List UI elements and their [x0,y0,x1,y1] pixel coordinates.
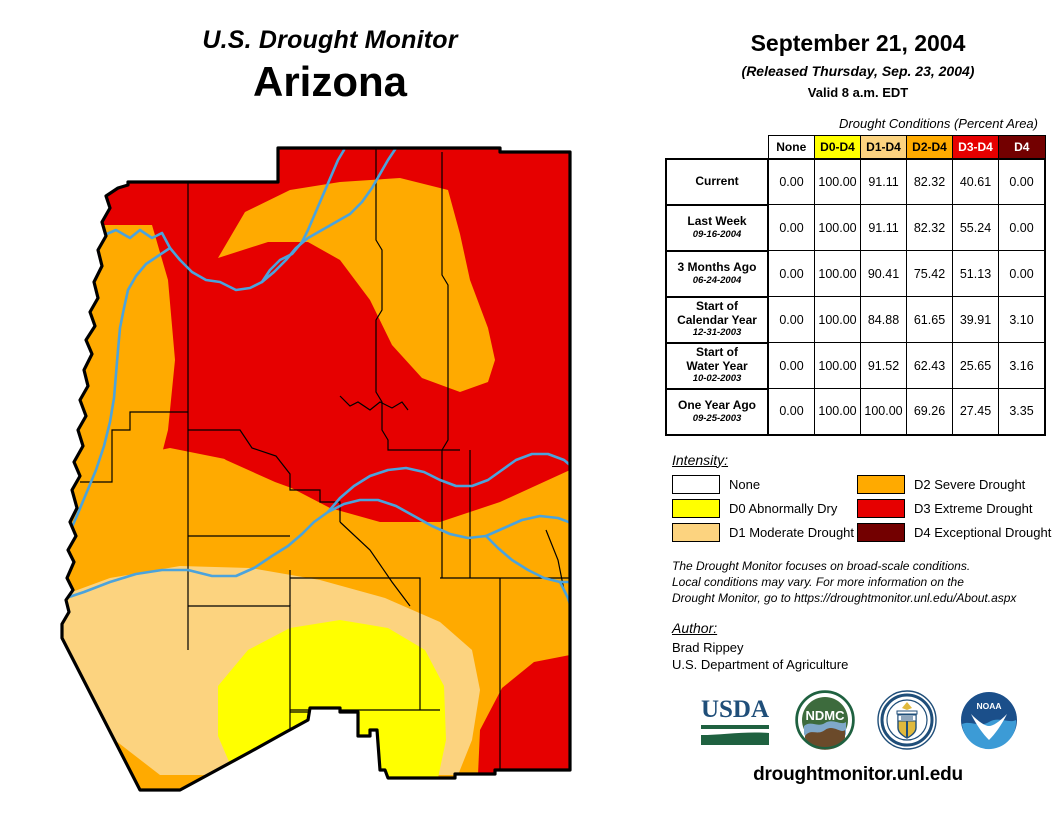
ndmc-logo: NDMC [795,690,855,750]
table-cell-none: 0.00 [768,389,815,435]
svg-text:NOAA: NOAA [976,701,1001,711]
table-cell-d3-d4: 40.61 [953,159,999,205]
stats-table-wrap: None D0-D4 D1-D4 D2-D4 D3-D4 D4 Current0… [660,135,1056,436]
table-cell-none: 0.00 [768,343,815,389]
row-label-date: 06-24-2004 [667,276,767,287]
intensity-heading: Intensity: [672,452,1056,468]
author-affiliation: U.S. Department of Agriculture [672,656,1056,674]
legend-swatch-none [672,475,720,494]
disclaimer-line-2: Local conditions may vary. For more info… [672,574,1056,590]
legend-label-d3: D3 Extreme Drought [914,501,1033,516]
column-header-d4: D4 [999,135,1046,159]
row-label-date: 09-16-2004 [667,230,767,241]
legend-swatch-d4 [857,523,905,542]
table-cell-d1-d4: 90.41 [861,251,907,297]
legend-label-d0: D0 Abnormally Dry [729,501,837,516]
row-label-date: 10-02-2003 [667,374,767,385]
legend-label-d2: D2 Severe Drought [914,477,1025,492]
legend-label-d4: D4 Exceptional Drought [914,525,1051,540]
map-title-main: U.S. Drought Monitor [0,26,660,55]
legend-item-d1: D1 Moderate Drought [672,523,857,542]
disclaimer-line-1: The Drought Monitor focuses on broad-sca… [672,558,1056,574]
row-label: Last Week09-16-2004 [666,205,768,251]
map-title-block: U.S. Drought Monitor Arizona [0,26,660,105]
table-cell-d1-d4: 91.11 [861,205,907,251]
report-date: September 21, 2004 [660,30,1056,58]
table-row: One Year Ago09-25-20030.00100.00100.0069… [666,389,1045,435]
table-cell-d3-d4: 25.65 [953,343,999,389]
legend-swatch-d0 [672,499,720,518]
table-cell-d0-d4: 100.00 [815,389,861,435]
table-cell-d4: 0.00 [999,205,1046,251]
legend-item-d3: D3 Extreme Drought [857,499,1047,518]
author-name: Brad Rippey [672,639,1056,657]
table-cell-d1-d4: 91.11 [861,159,907,205]
table-cell-d2-d4: 82.32 [907,159,953,205]
legend-item-d0: D0 Abnormally Dry [672,499,857,518]
row-label: 3 Months Ago06-24-2004 [666,251,768,297]
legend-item-d2: D2 Severe Drought [857,475,1047,494]
info-panel: September 21, 2004 (Released Thursday, S… [660,0,1056,816]
table-cell-d2-d4: 61.65 [907,297,953,343]
row-label-date: 12-31-2003 [667,328,767,339]
column-header-d2d4: D2-D4 [907,135,953,159]
noaa-logo: NOAA [959,690,1019,750]
table-cell-d0-d4: 100.00 [815,159,861,205]
intensity-legend: Intensity: NoneD2 Severe DroughtD0 Abnor… [660,452,1056,542]
table-cell-d3-d4: 39.91 [953,297,999,343]
legend-grid: NoneD2 Severe DroughtD0 Abnormally DryD3… [672,475,1056,542]
table-header-row: None D0-D4 D1-D4 D2-D4 D3-D4 D4 [666,135,1045,159]
legend-item-d4: D4 Exceptional Drought [857,523,1047,542]
table-caption: Drought Conditions (Percent Area) [660,116,1056,131]
row-label: Start ofWater Year10-02-2003 [666,343,768,389]
legend-swatch-d1 [672,523,720,542]
table-cell-d4: 3.35 [999,389,1046,435]
row-label: One Year Ago09-25-2003 [666,389,768,435]
table-cell-none: 0.00 [768,205,815,251]
map-title-state: Arizona [0,59,660,105]
table-cell-d1-d4: 100.00 [861,389,907,435]
usda-logo: USDA [697,691,773,749]
table-cell-d2-d4: 75.42 [907,251,953,297]
table-cell-d4: 0.00 [999,159,1046,205]
table-cell-d2-d4: 62.43 [907,343,953,389]
table-cell-d3-d4: 51.13 [953,251,999,297]
table-corner-cell [666,135,768,159]
table-cell-d1-d4: 84.88 [861,297,907,343]
table-cell-d0-d4: 100.00 [815,205,861,251]
table-cell-none: 0.00 [768,251,815,297]
usdc-seal-logo [877,690,937,750]
drought-conditions-table: None D0-D4 D1-D4 D2-D4 D3-D4 D4 Current0… [665,135,1046,436]
table-row: Last Week09-16-20040.00100.0091.1182.325… [666,205,1045,251]
table-cell-d3-d4: 55.24 [953,205,999,251]
table-cell-none: 0.00 [768,159,815,205]
valid-time: Valid 8 a.m. EDT [660,85,1056,100]
table-row: Current0.00100.0091.1182.3240.610.00 [666,159,1045,205]
site-url[interactable]: droughtmonitor.unl.edu [660,764,1056,786]
row-label-date: 09-25-2003 [667,414,767,425]
author-block: Author: Brad Rippey U.S. Department of A… [660,620,1056,674]
disclaimer-line-3: Drought Monitor, go to https://droughtmo… [672,590,1056,606]
map-drought-layers [40,130,640,800]
arizona-drought-map[interactable] [40,130,640,800]
table-row: 3 Months Ago06-24-20040.00100.0090.4175.… [666,251,1045,297]
legend-swatch-d2 [857,475,905,494]
author-heading: Author: [672,620,1056,636]
table-cell-d0-d4: 100.00 [815,297,861,343]
legend-item-none: None [672,475,857,494]
legend-label-none: None [729,477,760,492]
column-header-d3d4: D3-D4 [953,135,999,159]
date-block: September 21, 2004 (Released Thursday, S… [660,0,1056,100]
table-cell-d2-d4: 69.26 [907,389,953,435]
table-cell-d1-d4: 91.52 [861,343,907,389]
table-cell-d3-d4: 27.45 [953,389,999,435]
column-header-d1d4: D1-D4 [861,135,907,159]
table-cell-d4: 3.16 [999,343,1046,389]
release-date: (Released Thursday, Sep. 23, 2004) [660,63,1056,79]
column-header-none: None [768,135,815,159]
logo-row: USDA NDMC [660,690,1056,750]
legend-label-d1: D1 Moderate Drought [729,525,854,540]
table-cell-d0-d4: 100.00 [815,251,861,297]
table-cell-d0-d4: 100.00 [815,343,861,389]
row-label: Current [666,159,768,205]
column-header-d0d4: D0-D4 [815,135,861,159]
row-label: Start ofCalendar Year12-31-2003 [666,297,768,343]
table-cell-none: 0.00 [768,297,815,343]
legend-swatch-d3 [857,499,905,518]
svg-text:USDA: USDA [701,696,769,723]
table-cell-d4: 3.10 [999,297,1046,343]
svg-text:NDMC: NDMC [806,708,846,723]
table-cell-d2-d4: 82.32 [907,205,953,251]
table-row: Start ofWater Year10-02-20030.00100.0091… [666,343,1045,389]
map-panel: U.S. Drought Monitor Arizona [0,0,660,816]
table-row: Start ofCalendar Year12-31-20030.00100.0… [666,297,1045,343]
table-body: Current0.00100.0091.1182.3240.610.00Last… [666,159,1045,435]
table-cell-d4: 0.00 [999,251,1046,297]
disclaimer-text: The Drought Monitor focuses on broad-sca… [660,558,1056,606]
